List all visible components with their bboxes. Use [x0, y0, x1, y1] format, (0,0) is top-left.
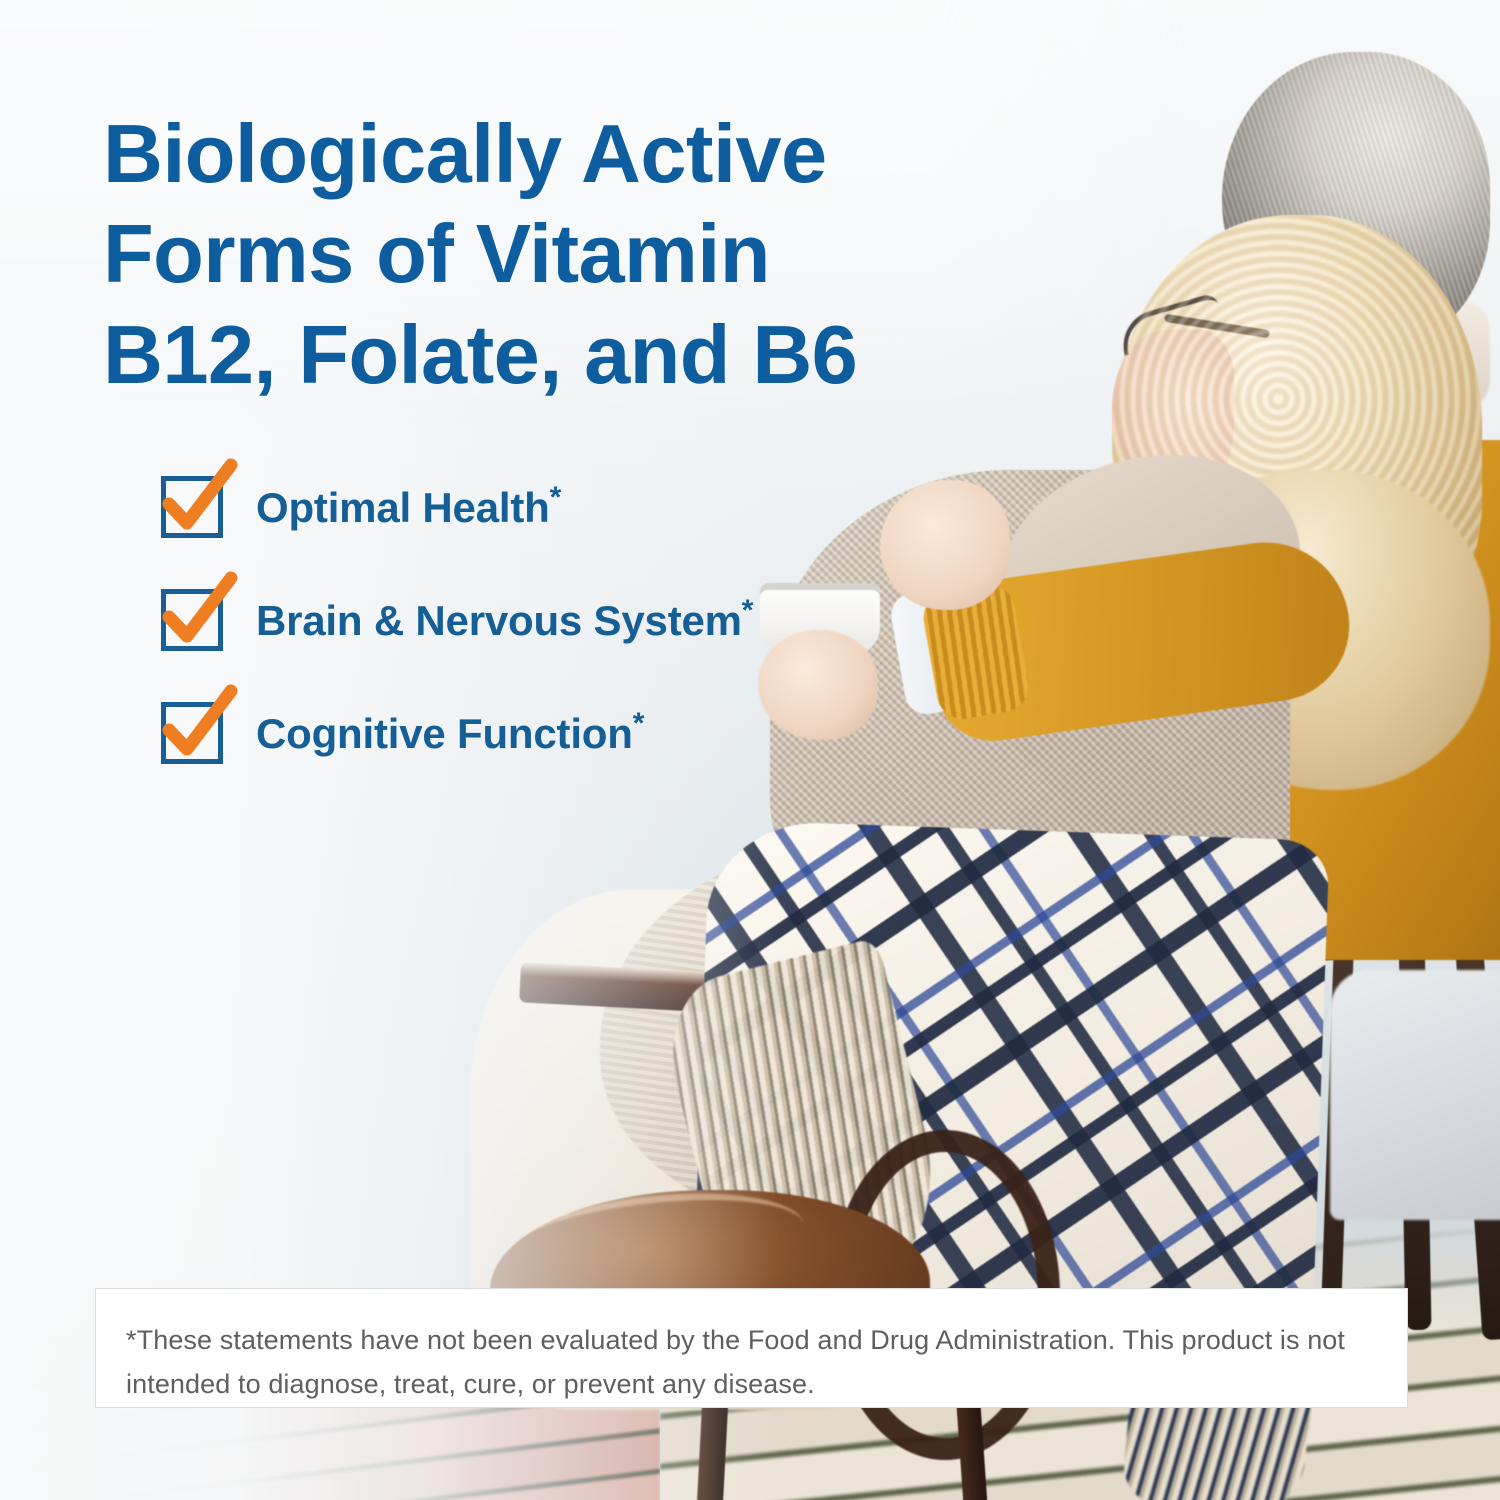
- benefit-item-brain-nervous-system: Brain & Nervous System*: [157, 583, 753, 655]
- benefit-item-cognitive-function: Cognitive Function*: [157, 696, 753, 768]
- benefit-label: Optimal Health*: [256, 481, 561, 532]
- benefit-item-optimal-health: Optimal Health*: [157, 470, 753, 542]
- footnote-marker: *: [742, 594, 753, 627]
- footnote-marker: *: [550, 481, 561, 514]
- content-layer: Biologically Active Forms of Vitamin B12…: [0, 0, 1500, 1500]
- benefit-label: Cognitive Function*: [256, 707, 644, 758]
- page-title: Biologically Active Forms of Vitamin B12…: [103, 104, 953, 405]
- checkbox-checked-icon: [157, 470, 229, 542]
- fda-disclaimer-box: *These statements have not been evaluate…: [95, 1288, 1408, 1408]
- footnote-marker: *: [633, 707, 644, 740]
- checkbox-checked-icon: [157, 696, 229, 768]
- benefit-label: Brain & Nervous System*: [256, 594, 753, 645]
- benefits-checklist: Optimal Health* Brain & Nervous System*: [157, 470, 753, 768]
- promo-image-canvas: Biologically Active Forms of Vitamin B12…: [0, 0, 1500, 1500]
- fda-disclaimer-text: *These statements have not been evaluate…: [126, 1319, 1371, 1406]
- checkbox-checked-icon: [157, 583, 229, 655]
